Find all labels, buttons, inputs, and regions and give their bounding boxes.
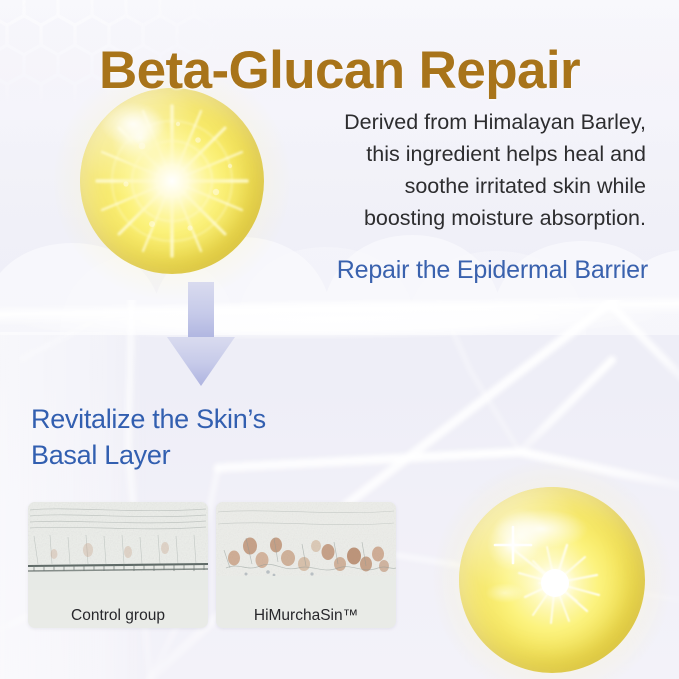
page-title: Beta-Glucan Repair	[0, 40, 679, 101]
micrograph-image-treated	[216, 502, 396, 590]
barrier-highlight-line	[0, 294, 679, 325]
product-infographic: Beta-Glucan Repair Derived from Himalaya…	[0, 0, 679, 679]
down-arrow-icon	[163, 282, 239, 386]
beta-glucan-sphere-icon	[80, 88, 264, 274]
section-heading-line2: Basal Layer	[31, 437, 371, 473]
description-line: Derived from Himalayan Barley,	[281, 106, 646, 138]
barrier-sweep-line	[0, 292, 679, 346]
description-line: boosting moisture absorption.	[281, 202, 646, 234]
beta-glucan-sphere-icon	[459, 487, 645, 673]
benefit-subtitle: Repair the Epidermal Barrier	[337, 256, 648, 285]
description-line: soothe irritated skin while	[281, 170, 646, 202]
product-description: Derived from Himalayan Barley, this ingr…	[281, 106, 646, 234]
micrograph-caption: HiMurchaSin™	[216, 607, 396, 625]
micrograph-card-control: Control group	[28, 502, 208, 628]
micrograph-card-treated: HiMurchaSin™	[216, 502, 396, 628]
section-heading-line1: Revitalize the Skin’s	[31, 401, 371, 437]
micrograph-image-control	[28, 502, 208, 590]
section-heading: Revitalize the Skin’s Basal Layer	[31, 401, 371, 473]
micrograph-caption: Control group	[28, 607, 208, 625]
description-line: this ingredient helps heal and	[281, 138, 646, 170]
